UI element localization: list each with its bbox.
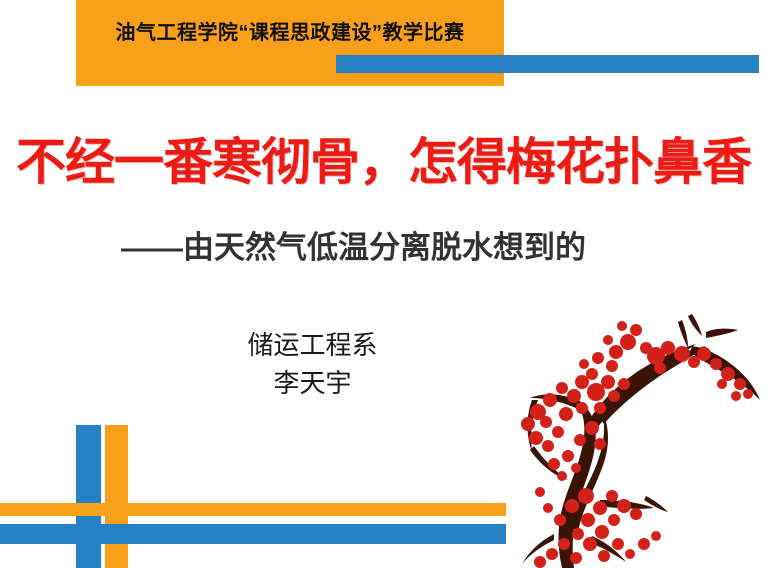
presenter-block: 储运工程系 李天宇 — [0, 326, 767, 402]
presenter-name: 李天宇 — [0, 364, 625, 402]
presentation-slide: 油气工程学院“课程思政建设”教学比赛 不经一番寒彻骨，怎得梅花扑鼻香 ——由天然… — [0, 0, 767, 568]
horizontal-blue-bar — [0, 524, 506, 544]
page-subtitle: ——由天然气低温分离脱水想到的 — [0, 225, 767, 271]
horizontal-orange-bar — [0, 503, 506, 516]
presenter-department: 储运工程系 — [0, 326, 625, 364]
header-banner-title: 油气工程学院“课程思政建设”教学比赛 — [84, 16, 496, 50]
page-title: 不经一番寒彻骨，怎得梅花扑鼻香 — [0, 131, 767, 193]
header-blue-accent-bar — [336, 55, 759, 73]
vertical-orange-bar — [105, 425, 128, 568]
vertical-blue-bar — [76, 425, 101, 568]
